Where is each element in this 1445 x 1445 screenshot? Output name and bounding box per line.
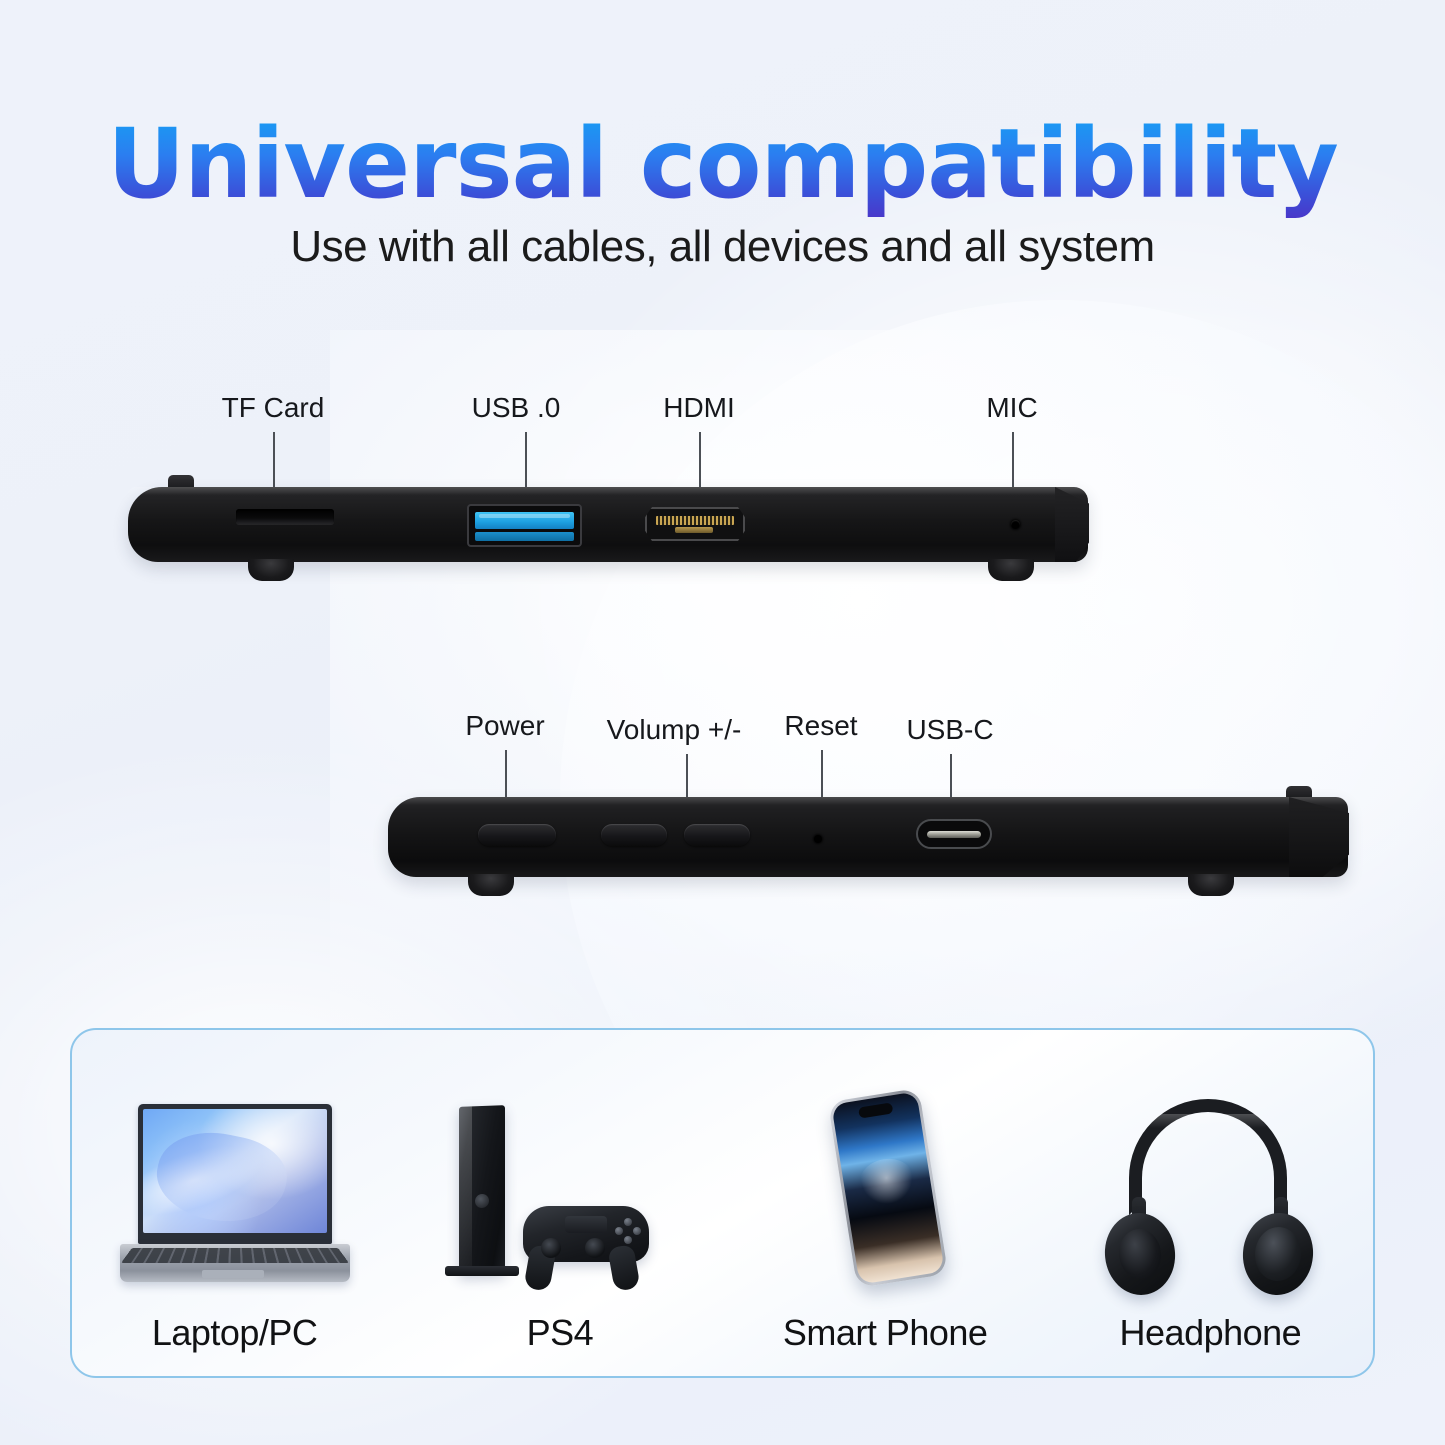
ps4-controller-touchpad (565, 1216, 607, 1233)
device-foot-right-top (988, 559, 1034, 581)
compat-item-smartphone[interactable]: Smart Phone (723, 1030, 1048, 1376)
page-subtitle: Use with all cables, all devices and all… (0, 222, 1445, 272)
ps4-console-stand (445, 1266, 519, 1276)
mic-pinhole (1011, 520, 1020, 529)
hdmi-tongue (675, 527, 713, 533)
compat-label-headphone: Headphone (1120, 1312, 1302, 1354)
headphone-headband (1129, 1099, 1287, 1215)
callout-label-mic: MIC (986, 392, 1037, 424)
callout-label-usbc: USB-C (906, 714, 993, 746)
compatibility-row: Laptop/PC (72, 1030, 1373, 1376)
volume-down-button[interactable] (684, 824, 750, 846)
headphone-earcup-left (1101, 1210, 1179, 1299)
laptop-trackpad (202, 1270, 264, 1278)
usb-blue-insert (475, 512, 574, 529)
laptop-keyboard (121, 1248, 349, 1263)
compatibility-panel: Laptop/PC (70, 1028, 1375, 1378)
volume-up-button[interactable] (601, 824, 667, 846)
callout-label-usb: USB .0 (472, 392, 561, 424)
compat-label-laptop: Laptop/PC (152, 1312, 318, 1354)
product-infographic: Universal compatibility Use with all cab… (0, 0, 1445, 1445)
smartphone-illustration (723, 1083, 1048, 1298)
leader-line-tf-card (273, 432, 275, 487)
hdmi-port (645, 507, 745, 541)
device-foot-right-bottom (1188, 874, 1234, 896)
callout-label-reset: Reset (784, 710, 857, 742)
usb-lower-contact (475, 532, 574, 541)
headphone-earcup-right (1240, 1210, 1317, 1298)
compat-item-laptop[interactable]: Laptop/PC (72, 1030, 397, 1376)
device-top-edge (128, 487, 1088, 562)
callout-label-volume: Volump +/- (607, 714, 742, 746)
laptop-screen (143, 1109, 327, 1233)
ps4-console-illustration (397, 1083, 722, 1298)
compat-label-smartphone: Smart Phone (783, 1312, 988, 1354)
ps4-console-body (459, 1105, 505, 1275)
compat-item-headphone[interactable]: Headphone (1048, 1030, 1373, 1376)
usb-c-tongue (927, 831, 981, 838)
smartphone-dynamic-island (858, 1102, 893, 1118)
power-button[interactable] (478, 824, 556, 846)
callout-label-hdmi: HDMI (663, 392, 735, 424)
laptop-lid (138, 1104, 332, 1244)
smartphone-body (828, 1088, 948, 1288)
ps4-controller-face-buttons (615, 1218, 641, 1244)
compat-item-ps4[interactable]: PS4 (397, 1030, 722, 1376)
compat-label-ps4: PS4 (527, 1312, 594, 1354)
headphone-illustration (1048, 1083, 1373, 1298)
smartphone-screen (831, 1091, 944, 1284)
device-bottom-edge (388, 797, 1348, 877)
device-foot-left-top (248, 559, 294, 581)
hdmi-pins (656, 516, 734, 525)
device-body-top (128, 487, 1088, 562)
callout-label-power: Power (465, 710, 544, 742)
tf-card-slot (236, 509, 334, 524)
reset-pinhole[interactable] (814, 835, 822, 843)
laptop-illustration (72, 1083, 397, 1298)
usb-a-port (467, 504, 582, 547)
ps4-controller-sticks (539, 1238, 609, 1260)
usb-c-port (916, 819, 992, 849)
device-foot-left-bottom (468, 874, 514, 896)
callout-label-tf-card: TF Card (222, 392, 325, 424)
page-title: Universal compatibility (0, 108, 1445, 220)
